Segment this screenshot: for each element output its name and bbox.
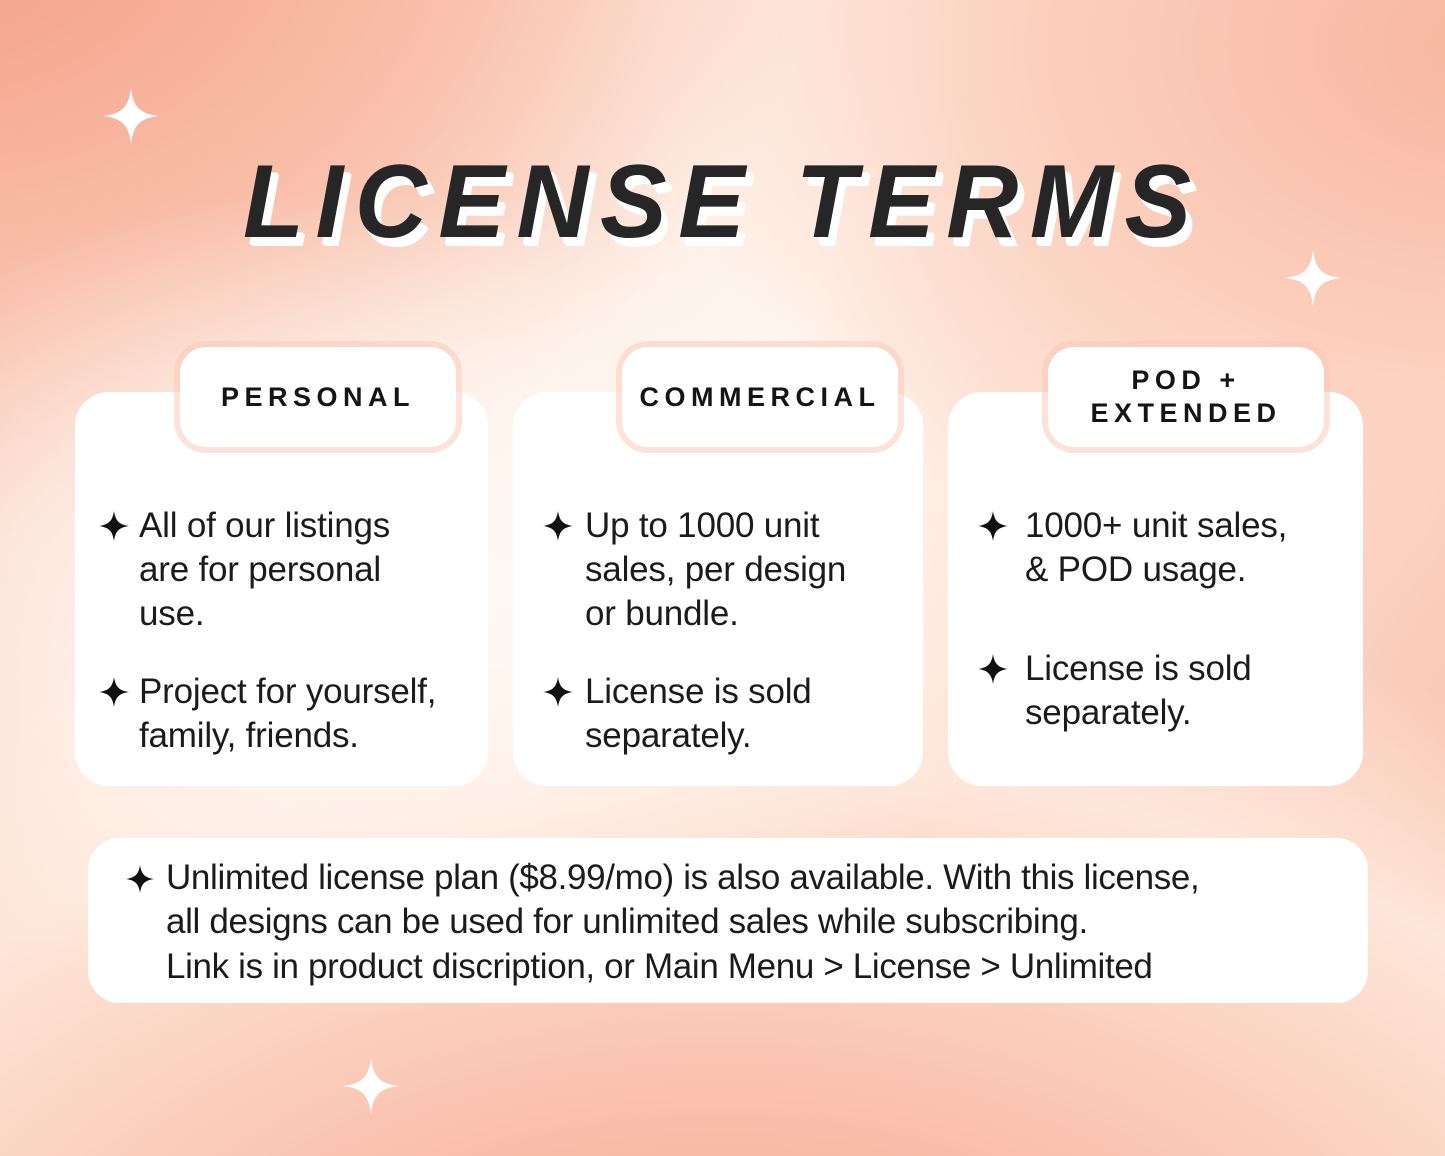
four-point-star-icon [543, 677, 573, 707]
four-point-star-icon [978, 654, 1008, 684]
unlimited-plan-banner: Unlimited license plan ($8.99/mo) is als… [88, 838, 1368, 1003]
license-card-pod-extended: POD + EXTENDED 1000+ unit sales, & POD u… [948, 392, 1363, 786]
list-item-text: License is sold separately. [1025, 647, 1252, 735]
list-item-text: Project for yourself, family, friends. [139, 670, 436, 758]
license-bullet-list: All of our listings are for personal use… [75, 504, 488, 758]
license-tier-cards: PERSONAL All of our listings are for per… [75, 392, 1370, 786]
list-item: All of our listings are for personal use… [99, 504, 466, 636]
unlimited-plan-text: Unlimited license plan ($8.99/mo) is als… [166, 856, 1199, 989]
page-title-wrap: LICENSE TERMS [0, 150, 1445, 254]
badge-label: COMMERCIAL [640, 381, 881, 414]
page-title: LICENSE TERMS [243, 150, 1203, 254]
badge-label: POD + EXTENDED [1090, 364, 1281, 430]
list-item-text: 1000+ unit sales, & POD usage. [1025, 504, 1287, 592]
license-card-commercial: COMMERCIAL Up to 1000 unit sales, per de… [513, 392, 923, 786]
list-item-text: Up to 1000 unit sales, per design or bun… [585, 504, 846, 636]
list-item: License is sold separately. [978, 647, 1341, 735]
list-item: Up to 1000 unit sales, per design or bun… [543, 504, 901, 636]
four-point-star-icon [978, 511, 1008, 541]
list-item: License is sold separately. [543, 670, 901, 758]
four-point-star-icon [99, 511, 129, 541]
four-point-star-icon [99, 677, 129, 707]
four-point-star-icon [126, 865, 154, 893]
license-card-personal: PERSONAL All of our listings are for per… [75, 392, 488, 786]
four-point-star-icon [543, 511, 573, 541]
license-bullet-list: 1000+ unit sales, & POD usage. License i… [948, 504, 1363, 735]
list-item-text: All of our listings are for personal use… [139, 504, 390, 636]
unlimited-plan-banner-inner: Unlimited license plan ($8.99/mo) is als… [126, 852, 1328, 989]
license-card-badge-commercial: COMMERCIAL [622, 347, 898, 447]
license-card-badge-pod-extended: POD + EXTENDED [1048, 347, 1324, 447]
list-item: Project for yourself, family, friends. [99, 670, 466, 758]
list-item-text: License is sold separately. [585, 670, 812, 758]
license-bullet-list: Up to 1000 unit sales, per design or bun… [513, 504, 923, 758]
badge-label: PERSONAL [221, 381, 415, 414]
license-card-badge-personal: PERSONAL [180, 347, 456, 447]
list-item: 1000+ unit sales, & POD usage. [978, 504, 1341, 592]
